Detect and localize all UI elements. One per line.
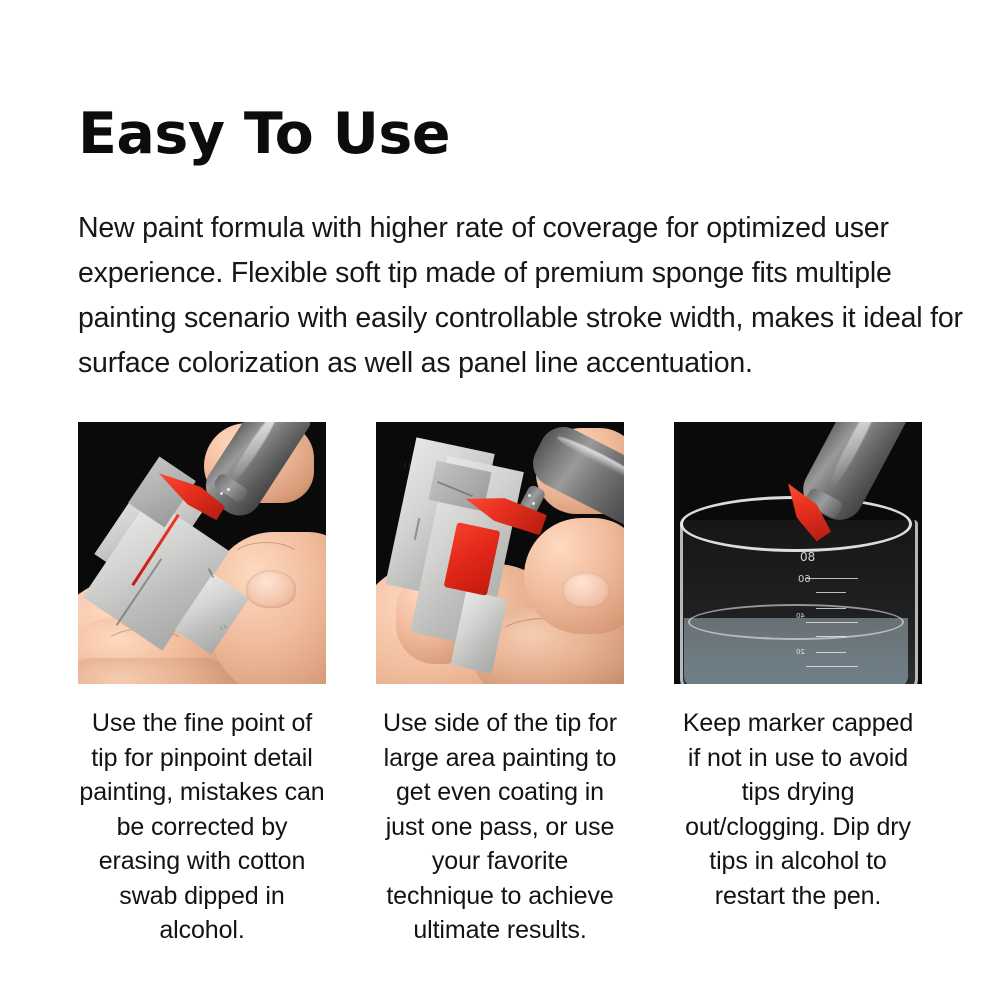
beaker-graduation-20: 20: [796, 648, 805, 656]
page-title: Easy To Use: [78, 0, 922, 166]
panel-alcohol-dip: 80 60 40 20 Keep marker capped if not in…: [674, 422, 922, 948]
marker-dot: [227, 488, 230, 491]
caption-fine-point: Use the fine point of tip for pinpoint d…: [78, 684, 326, 948]
part-marking: [ ]: [404, 461, 411, 467]
beaker-tick: [816, 608, 846, 609]
caption-side-tip: Use side of the tip for large area paint…: [376, 684, 624, 948]
beaker-graduation-80: 80: [800, 550, 815, 564]
beaker-graduation-40: 40: [796, 612, 805, 620]
beaker-graduation-60: 60: [798, 574, 811, 585]
intro-paragraph: New paint formula with higher rate of co…: [78, 166, 983, 386]
knuckle-crease: [230, 542, 302, 578]
marker-dot: [528, 494, 531, 497]
caption-alcohol-dip: Keep marker capped if not in use to avoi…: [674, 684, 922, 913]
marker-dot: [532, 502, 535, 505]
photo-alcohol-dip: 80 60 40 20: [674, 422, 922, 684]
panel-side-tip: [ ] Use side of the tip for large area p…: [376, 422, 624, 948]
beaker-tick: [816, 592, 846, 593]
beaker-tick: [806, 666, 858, 667]
photo-fine-point: [ ]: [78, 422, 326, 684]
marker-dot: [220, 492, 223, 495]
fingernail: [562, 572, 610, 608]
beaker-tick: [816, 636, 846, 637]
photo-side-tip: [ ]: [376, 422, 624, 684]
feature-panels: [ ] Use the fine point of tip for pinpoi…: [78, 386, 922, 948]
panel-fine-point: [ ] Use the fine point of tip for pinpoi…: [78, 422, 326, 948]
beaker-tick: [806, 622, 858, 623]
beaker-tick: [806, 578, 858, 579]
liquid-surface: [688, 604, 904, 640]
product-feature-page: Easy To Use New paint formula with highe…: [0, 0, 1000, 1000]
beaker-tick: [816, 652, 846, 653]
